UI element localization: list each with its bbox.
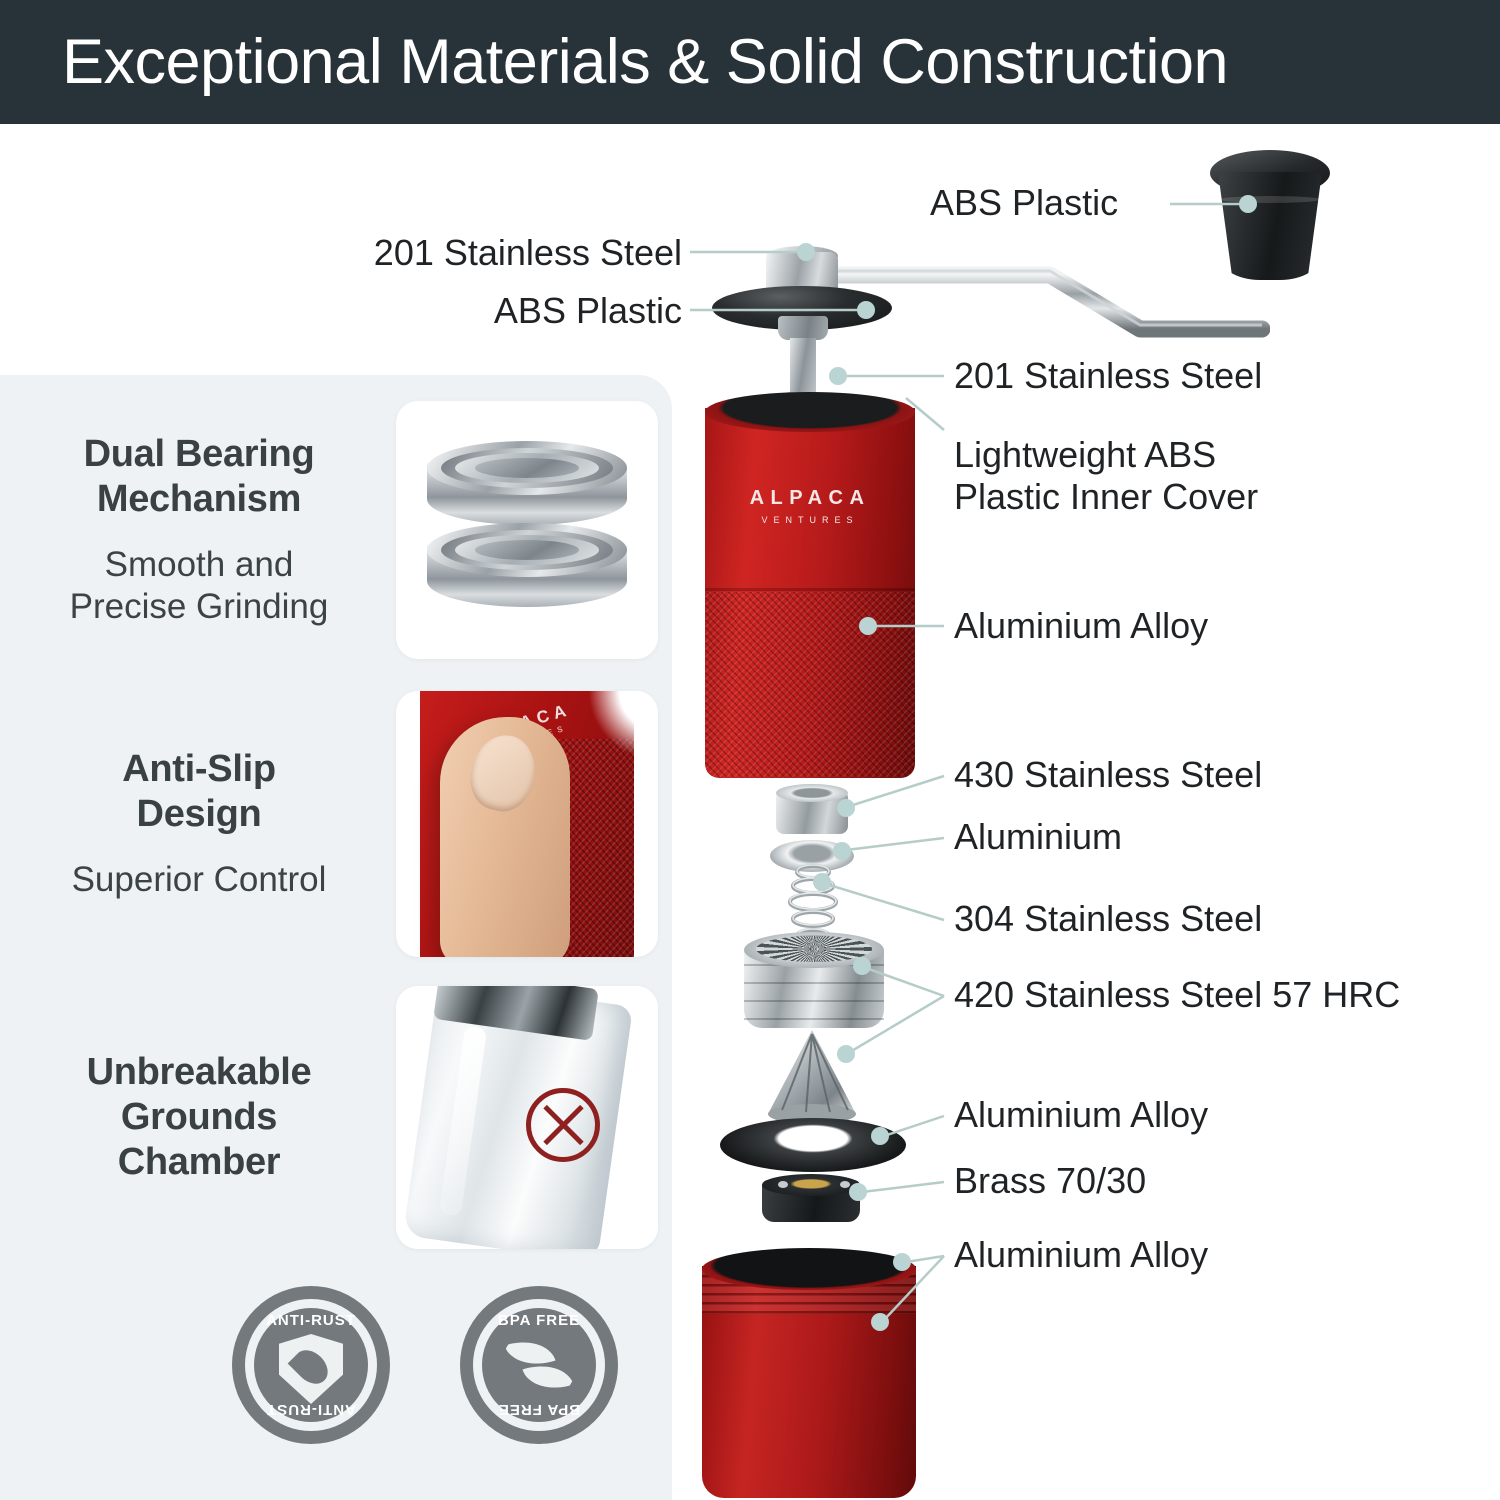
feature-dual-bearing: Dual Bearing Mechanism Smooth and Precis… — [0, 400, 672, 660]
header-banner: Exceptional Materials & Solid Constructi… — [0, 0, 1500, 124]
feature-title: Unbreakable Grounds Chamber — [10, 1050, 388, 1184]
callout-spring: 304 Stainless Steel — [954, 898, 1262, 940]
badge-label-top: BPA FREE — [460, 1312, 618, 1329]
callout-knob: ABS Plastic — [930, 182, 1118, 224]
feature-text: Anti-Slip Design Superior Control — [0, 747, 388, 901]
part-outer-burr-bands — [744, 964, 884, 1028]
callout-crank-arm: 201 Stainless Steel — [954, 355, 1262, 397]
callout-dial: Brass 70/30 — [954, 1160, 1146, 1202]
callout-washer: Aluminium — [954, 816, 1122, 858]
callout-cup: Aluminium Alloy — [954, 1234, 1208, 1276]
part-abs-disc-lip — [778, 316, 828, 340]
part-burr-teeth — [756, 936, 872, 962]
part-knob-ring — [1220, 196, 1320, 203]
prohibited-x-icon — [526, 1088, 600, 1162]
brand-logo-on-body: ALPACA VENTURES — [705, 487, 915, 525]
badge-label-bottom: BPA FREE — [460, 1401, 618, 1418]
callout-abs-disc: ABS Plastic — [310, 290, 682, 332]
badge-anti-rust: ANTI-RUST ANTI-RUST — [232, 1286, 390, 1444]
certification-badges: ANTI-RUST ANTI-RUST BPA FREE BPA FREE — [232, 1280, 652, 1470]
part-dial-screw — [778, 1181, 788, 1188]
part-black-ring — [720, 1118, 906, 1172]
feature-title: Anti-Slip Design — [10, 747, 388, 837]
feature-anti-slip: Anti-Slip Design Superior Control ALPACA… — [0, 690, 672, 958]
feature-thumbnail-bearings — [396, 401, 658, 659]
leaf-icon — [502, 1328, 576, 1402]
part-catch-cup-rim — [702, 1248, 916, 1290]
callout-inner-cover: Lightweight ABS Plastic Inner Cover — [954, 434, 1324, 519]
thumb-grip-photo: ALPACA VENTURES — [396, 691, 658, 957]
badge-label-bottom: ANTI-RUST — [232, 1401, 390, 1418]
part-dial-screw — [840, 1181, 850, 1188]
badge-label-top: ANTI-RUST — [232, 1312, 390, 1329]
callout-body: Aluminium Alloy — [954, 605, 1208, 647]
badge-bpa-free: BPA FREE BPA FREE — [460, 1286, 618, 1444]
callout-cap: 201 Stainless Steel — [310, 232, 682, 274]
page-title: Exceptional Materials & Solid Constructi… — [0, 26, 1228, 98]
part-body-top-rim — [705, 392, 915, 432]
feature-subtitle: Smooth and Precise Grinding — [10, 544, 388, 628]
part-body-seam — [705, 588, 915, 591]
feature-unbreakable-chamber: Unbreakable Grounds Chamber — [0, 985, 672, 1250]
feature-text: Unbreakable Grounds Chamber — [0, 1050, 388, 1184]
callout-ring: Aluminium Alloy — [954, 1094, 1208, 1136]
dual-bearings-icon — [427, 441, 627, 619]
feature-thumbnail-grip: ALPACA VENTURES — [396, 691, 658, 957]
glass-jar-photo — [396, 986, 658, 1249]
feature-thumbnail-glass-jar — [396, 986, 658, 1249]
callout-bearing: 430 Stainless Steel — [954, 754, 1262, 796]
feature-title: Dual Bearing Mechanism — [10, 432, 388, 522]
callout-burrs: 420 Stainless Steel 57 HRC — [954, 974, 1400, 1016]
part-body-knurl — [705, 592, 915, 778]
feature-text: Dual Bearing Mechanism Smooth and Precis… — [0, 432, 388, 628]
part-catch-cup-body — [702, 1310, 916, 1498]
feature-subtitle: Superior Control — [10, 859, 388, 901]
part-bearing-top — [776, 784, 848, 802]
part-conical-burr — [752, 1028, 872, 1124]
